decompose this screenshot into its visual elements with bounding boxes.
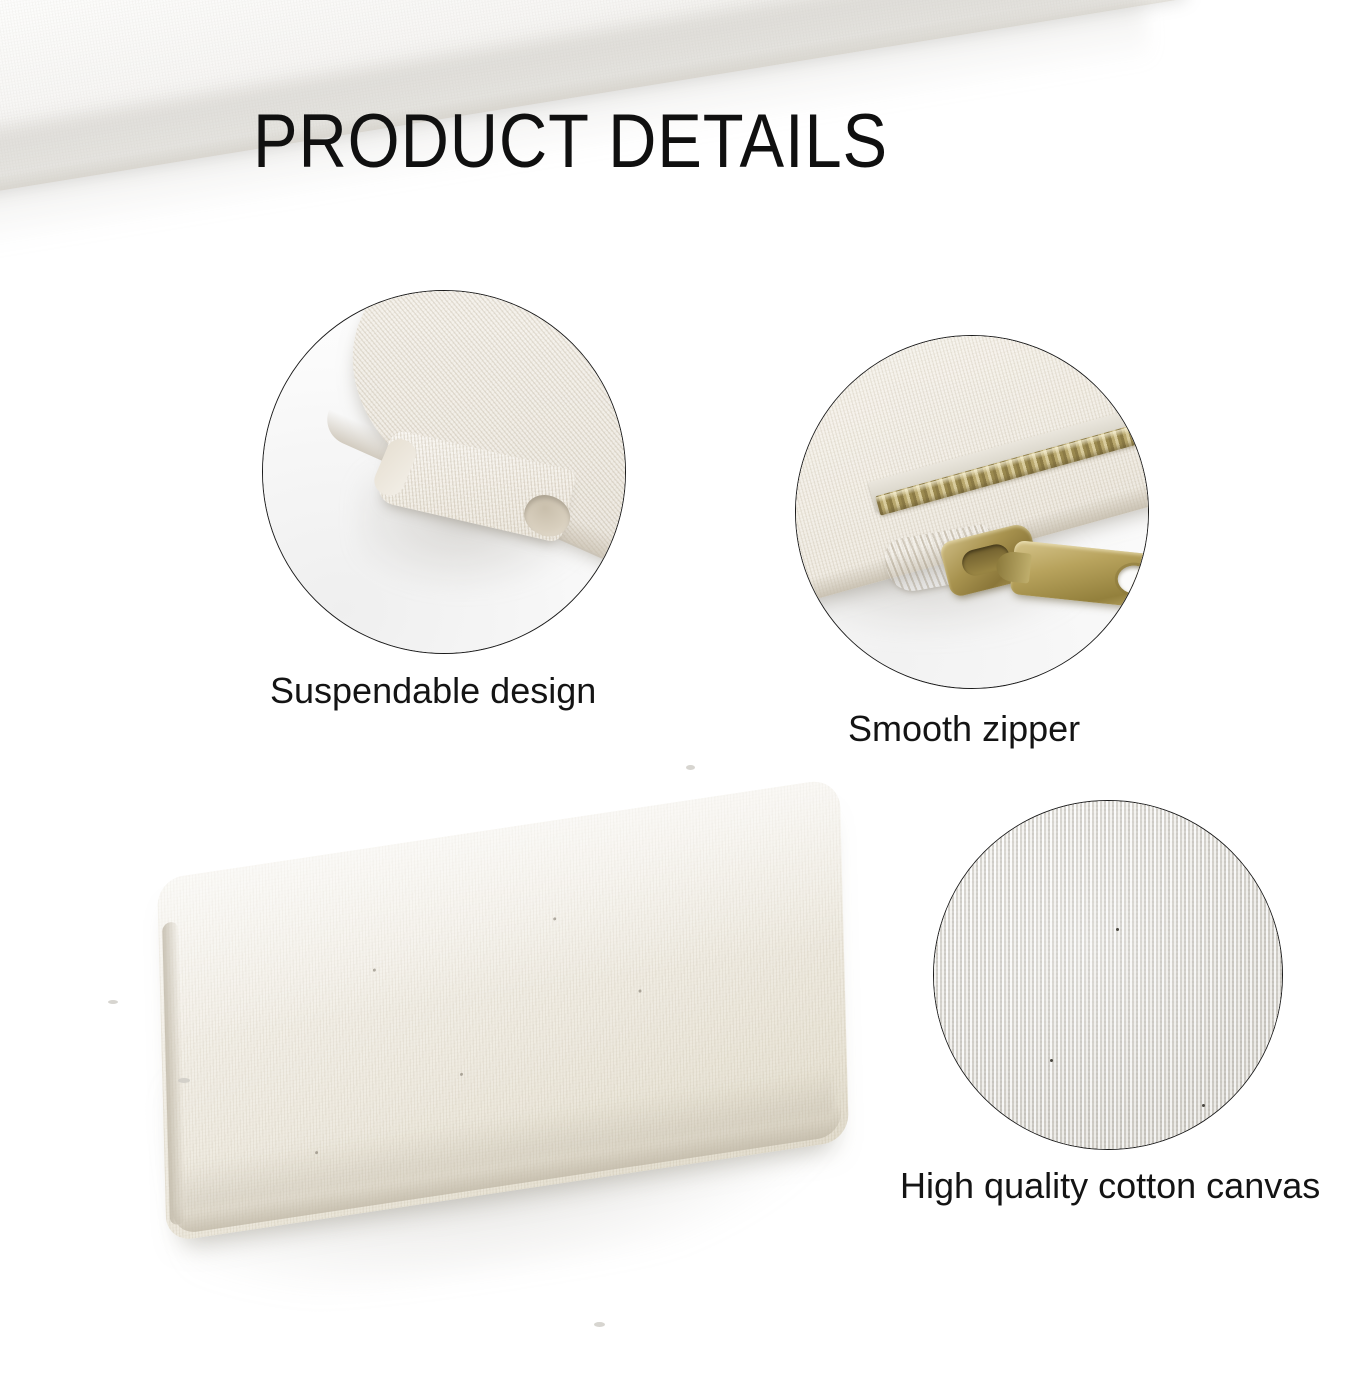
canvas-texture-shading [934,801,1282,1149]
floor-speck [686,765,695,770]
product-details-page: PRODUCT DETAILS Suspendable design [0,0,1362,1393]
caption-high-quality-cotton-canvas: High quality cotton canvas [900,1166,1320,1206]
floor-speck [594,1322,605,1327]
zipper-pull-hole [1116,564,1149,595]
caption-suspendable-design: Suspendable design [270,671,596,711]
product-photo-canvas-pouch [150,800,870,1300]
floor-speck [178,1078,190,1083]
detail-circle-suspendable [262,290,626,654]
detail-circle-zipper [795,335,1149,689]
detail-circle-canvas-texture [933,800,1283,1150]
floor-speck [108,1000,118,1004]
canvas-fleck [1116,928,1119,931]
caption-smooth-zipper: Smooth zipper [848,709,1080,749]
canvas-fleck [1202,1104,1205,1107]
canvas-fleck [1050,1059,1053,1062]
page-title: PRODUCT DETAILS [253,104,888,180]
